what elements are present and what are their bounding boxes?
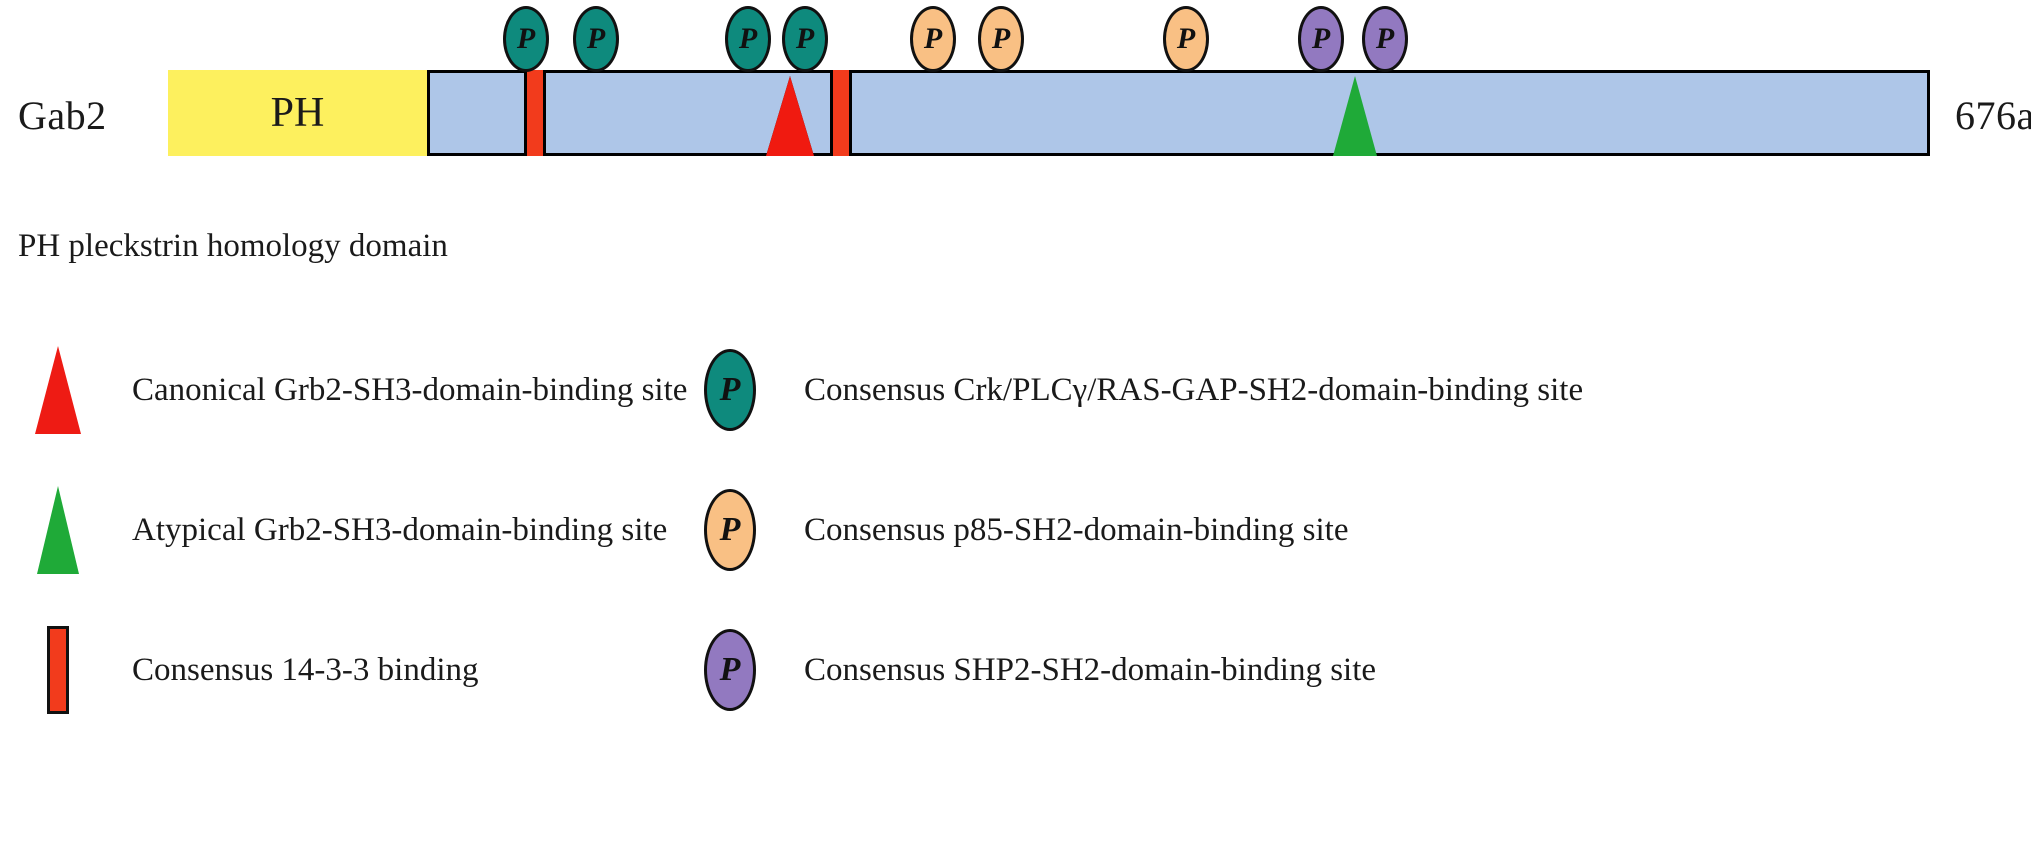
legend-item-atypical-grb2: Atypical Grb2-SH3-domain-binding site — [18, 460, 667, 600]
legend-item-canonical-grb2: Canonical Grb2-SH3-domain-binding site — [18, 320, 687, 460]
phospho-glyph: P — [517, 22, 535, 56]
legend-label: Consensus p85-SH2-domain-binding site — [804, 512, 1348, 549]
phospho-site-marker: P — [503, 6, 549, 72]
phospho-glyph: P — [720, 511, 741, 549]
phospho-site-marker: P — [1163, 6, 1209, 72]
phospho-site-marker: P — [1362, 6, 1408, 72]
consensus-1433-bar — [830, 70, 852, 156]
legend-row: Canonical Grb2-SH3-domain-binding site P… — [0, 320, 2031, 460]
phospho-glyph: P — [1312, 22, 1330, 56]
legend: Canonical Grb2-SH3-domain-binding site P… — [0, 320, 2031, 740]
phospho-site-marker: P — [978, 6, 1024, 72]
red-bar-icon — [18, 626, 98, 714]
canonical-grb2-triangle — [766, 76, 814, 156]
legend-label: Canonical Grb2-SH3-domain-binding site — [132, 372, 687, 409]
phospho-site-marker: P — [573, 6, 619, 72]
ph-domain-segment: PH — [168, 70, 430, 156]
legend-item-p85: P Consensus p85-SH2-domain-binding site — [690, 460, 1348, 600]
phospho-site-marker: P — [725, 6, 771, 72]
phospho-glyph: P — [924, 22, 942, 56]
phospho-glyph: P — [1177, 22, 1195, 56]
phospho-glyph: P — [720, 651, 741, 689]
ph-domain-description: PH pleckstrin homology domain — [18, 228, 448, 265]
red-triangle-icon — [18, 346, 98, 434]
protein-length-label: 676aa — [1955, 92, 2031, 139]
ph-domain-label: PH — [168, 70, 427, 156]
phospho-glyph: P — [992, 22, 1010, 56]
phospho-glyph: P — [1376, 22, 1394, 56]
phospho-site-marker: P — [910, 6, 956, 72]
legend-item-1433: Consensus 14-3-3 binding — [18, 600, 479, 740]
backbone-rect — [168, 70, 1930, 156]
teal-phospho-oval-icon: P — [690, 349, 770, 431]
figure-canvas: Gab2 676aa PH P P P P P P P P P PH pleck… — [0, 0, 2031, 866]
phospho-glyph: P — [796, 22, 814, 56]
phospho-glyph: P — [587, 22, 605, 56]
legend-label: Consensus SHP2-SH2-domain-binding site — [804, 652, 1376, 689]
protein-backbone: PH — [168, 70, 1930, 156]
orange-phospho-oval-icon: P — [690, 489, 770, 571]
atypical-grb2-triangle — [1333, 76, 1377, 156]
legend-label: Consensus Crk/PLCγ/RAS-GAP-SH2-domain-bi… — [804, 372, 1583, 409]
purple-phospho-oval-icon: P — [690, 629, 770, 711]
legend-item-crk-plcg-rasgap: P Consensus Crk/PLCγ/RAS-GAP-SH2-domain-… — [690, 320, 1583, 460]
phospho-glyph: P — [720, 371, 741, 409]
legend-item-shp2: P Consensus SHP2-SH2-domain-binding site — [690, 600, 1376, 740]
legend-label: Consensus 14-3-3 binding — [132, 652, 479, 689]
protein-name-label: Gab2 — [18, 92, 107, 139]
phospho-site-marker: P — [1298, 6, 1344, 72]
phospho-glyph: P — [739, 22, 757, 56]
consensus-1433-bar — [524, 70, 546, 156]
protein-domain-diagram: Gab2 676aa PH P P P P P P P P P — [0, 0, 2031, 200]
legend-row: Atypical Grb2-SH3-domain-binding site P … — [0, 460, 2031, 600]
legend-label: Atypical Grb2-SH3-domain-binding site — [132, 512, 667, 549]
legend-row: Consensus 14-3-3 binding P Consensus SHP… — [0, 600, 2031, 740]
green-triangle-icon — [18, 486, 98, 574]
phospho-site-marker: P — [782, 6, 828, 72]
